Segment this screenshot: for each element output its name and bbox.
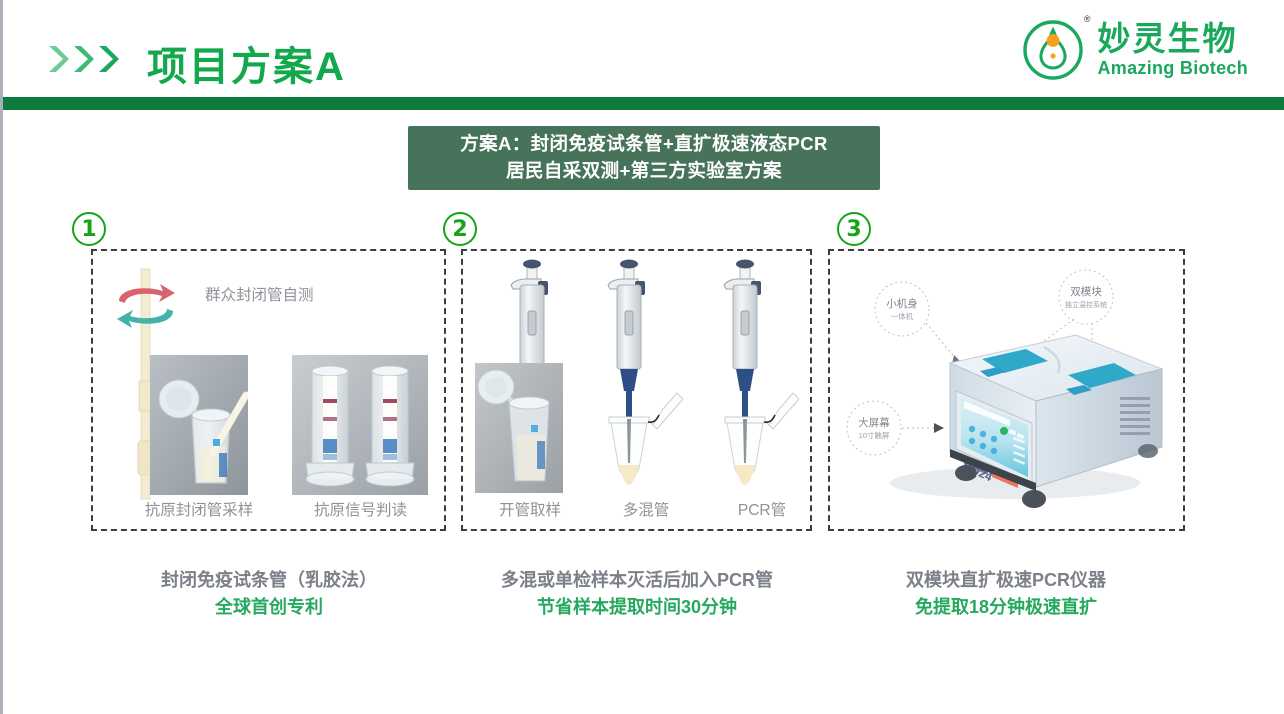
svg-text:独立温控系统: 独立温控系统 <box>1065 300 1107 309</box>
footer-caption-1: 封闭免疫试条管（乳胶法） 全球首创专利 <box>89 567 449 621</box>
svg-text:一体机: 一体机 <box>891 311 914 321</box>
pipette-pooling-tube-icon <box>591 259 699 499</box>
footer-2-line-2: 节省样本提取时间30分钟 <box>461 594 813 621</box>
registered-trademark-icon: ® <box>1084 14 1091 24</box>
company-logo: ® 妙灵生物 Amazing Biotech <box>1022 16 1248 82</box>
footer-2-line-1: 多混或单检样本灭活后加入PCR管 <box>461 567 813 594</box>
pipette-open-tube-photo <box>475 259 583 499</box>
step-number-1: 1 <box>72 212 106 246</box>
swab-tube-photo <box>150 355 248 495</box>
slide-root: 项目方案A ® 妙灵生物 Amazing Biotech 方案A：封闭免疫试条管… <box>0 0 1284 714</box>
test-strip-tubes-photo <box>292 355 428 495</box>
step-2-caption-2: 多混管 <box>587 498 705 520</box>
svg-text:大屏幕: 大屏幕 <box>858 416 890 429</box>
step-number-2: 2 <box>443 212 477 246</box>
footer-3-line-2: 免提取18分钟极速直扩 <box>827 594 1185 621</box>
scheme-banner: 方案A：封闭免疫试条管+直扩极速液态PCR 居民自采双测+第三方实验室方案 <box>408 126 880 190</box>
page-title: 项目方案A <box>147 34 346 92</box>
footer-caption-2: 多混或单检样本灭活后加入PCR管 节省样本提取时间30分钟 <box>461 567 813 621</box>
panel-1-note: 群众封闭管自测 <box>205 283 314 305</box>
chevron-right-icon-3 <box>97 44 119 74</box>
footer-1-line-1: 封闭免疫试条管（乳胶法） <box>89 567 449 594</box>
pipette-pcr-tube-icon <box>707 259 815 499</box>
svg-text:小机身: 小机身 <box>886 297 918 310</box>
banner-line-1: 方案A：封闭免疫试条管+直扩极速液态PCR <box>460 131 828 158</box>
footer-1-line-2: 全球首创专利 <box>89 594 449 621</box>
step-panel-2: 开管取样 多混管 <box>461 249 812 531</box>
footer-caption-3: 双模块直扩极速PCR仪器 免提取18分钟极速直扩 <box>827 567 1185 621</box>
triple-chevron-right-icon <box>47 44 119 74</box>
svg-text:10寸触屏: 10寸触屏 <box>859 430 890 440</box>
footer-3-line-1: 双模块直扩极速PCR仪器 <box>827 567 1185 594</box>
step-panel-1: 群众封闭管自测 <box>91 249 446 531</box>
step-1-caption-2: 抗原信号判读 <box>283 498 438 520</box>
step-1-caption-1: 抗原封闭管采样 <box>129 498 269 520</box>
step-number-3: 3 <box>837 212 871 246</box>
logo-name-cn: 妙灵生物 <box>1097 22 1248 55</box>
step-2-caption-3: PCR管 <box>703 498 821 520</box>
slide-header: 项目方案A ® 妙灵生物 Amazing Biotech <box>3 0 1284 97</box>
pcr-instrument-photo: 小机身 一体机 双模块 独立温控系统 大屏幕 10寸触屏 <box>830 251 1183 529</box>
logo-name-en: Amazing Biotech <box>1097 59 1248 77</box>
chevron-right-icon-2 <box>72 44 94 74</box>
chevron-right-icon-1 <box>47 44 69 74</box>
svg-text:双模块: 双模块 <box>1070 286 1102 298</box>
step-2-caption-1: 开管取样 <box>471 498 589 520</box>
flask-circle-logo-icon: ® <box>1022 16 1088 82</box>
header-green-bar <box>3 97 1284 110</box>
banner-line-2: 居民自采双测+第三方实验室方案 <box>506 158 782 185</box>
step-panel-3: 小机身 一体机 双模块 独立温控系统 大屏幕 10寸触屏 <box>828 249 1185 531</box>
